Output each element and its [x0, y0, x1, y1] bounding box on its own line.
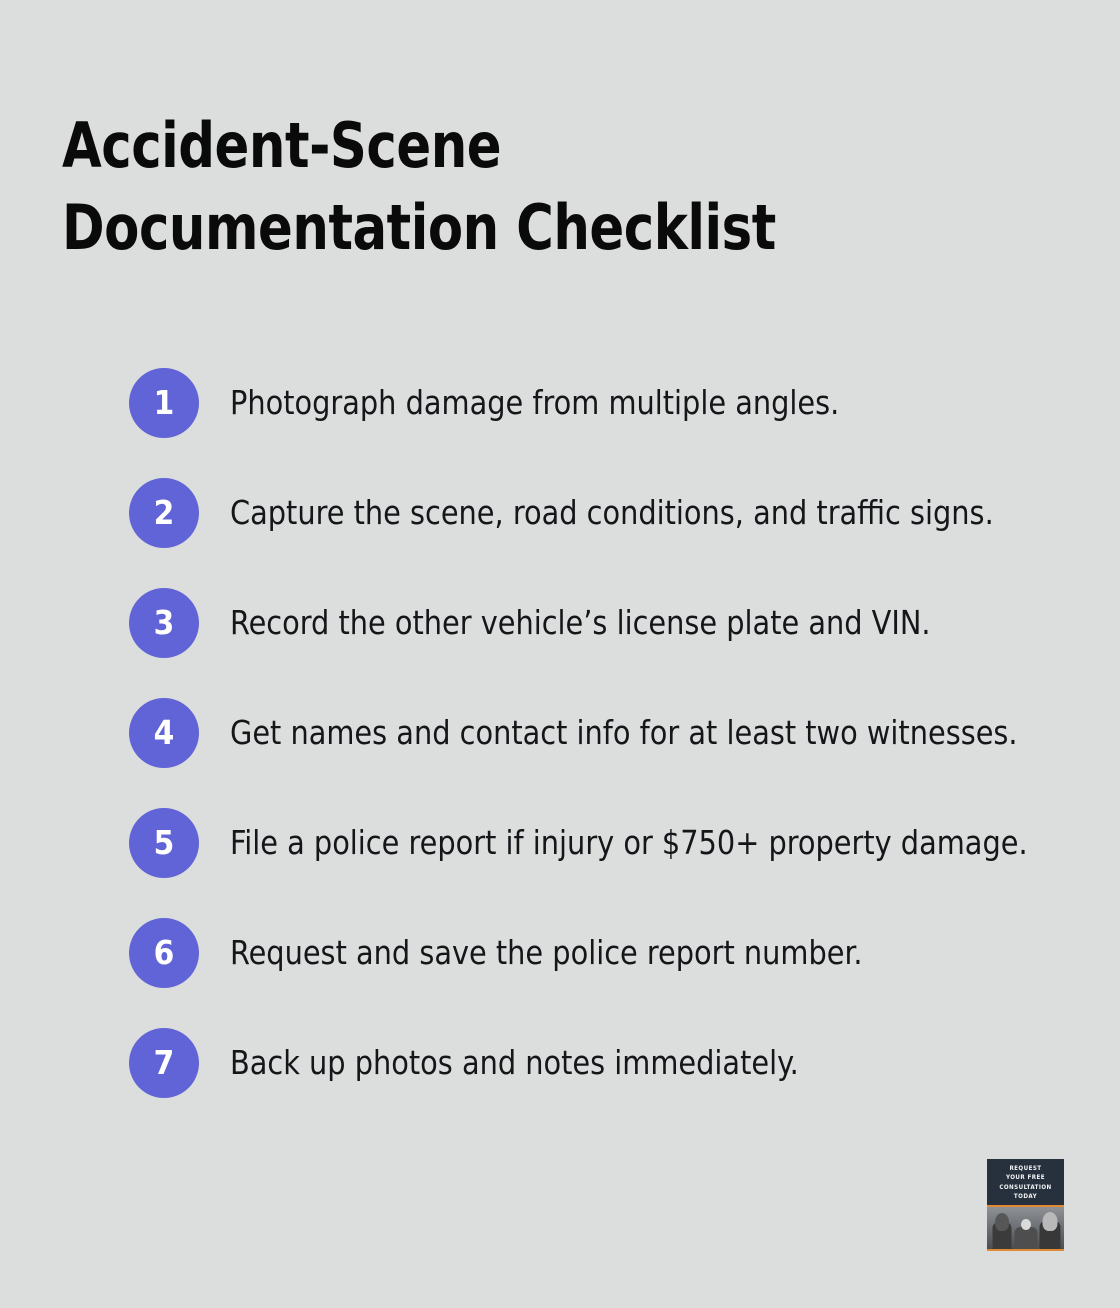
list-item-label: Back up photos and notes immediately.	[230, 1043, 799, 1083]
title-block: Accident-Scene Documentation Checklist	[62, 105, 962, 270]
step-number-badge: 2	[129, 478, 199, 548]
list-item-label: Request and save the police report numbe…	[230, 933, 863, 973]
step-number-badge: 6	[129, 918, 199, 988]
list-item: 6 Request and save the police report num…	[129, 918, 1089, 988]
list-item-label: Record the other vehicle’s license plate…	[230, 603, 931, 643]
person-head	[1021, 1219, 1031, 1230]
person-figure-left	[992, 1213, 1012, 1249]
list-item: 1 Photograph damage from multiple angles…	[129, 368, 1089, 438]
list-item-label: File a police report if injury or $750+ …	[230, 823, 1028, 863]
promo-line-3: CONSULTATION	[999, 1183, 1051, 1192]
step-number-badge: 1	[129, 368, 199, 438]
page-title: Accident-Scene Documentation Checklist	[62, 105, 890, 270]
step-number-badge: 7	[129, 1028, 199, 1098]
promo-line-1: REQUEST	[1009, 1164, 1041, 1173]
free-consultation-promo-badge[interactable]: REQUEST YOUR FREE CONSULTATION TODAY	[987, 1159, 1064, 1251]
promo-line-4: TODAY	[1014, 1192, 1037, 1201]
checklist: 1 Photograph damage from multiple angles…	[129, 368, 1089, 1098]
person-hair	[1043, 1212, 1058, 1231]
person-hair	[995, 1213, 1009, 1231]
step-number-badge: 4	[129, 698, 199, 768]
promo-headline: REQUEST YOUR FREE CONSULTATION TODAY	[987, 1159, 1064, 1205]
step-number-badge: 5	[129, 808, 199, 878]
list-item: 3 Record the other vehicle’s license pla…	[129, 588, 1089, 658]
step-number-badge: 3	[129, 588, 199, 658]
list-item-label: Capture the scene, road conditions, and …	[230, 493, 994, 533]
list-item-label: Photograph damage from multiple angles.	[230, 383, 839, 423]
checklist-infographic: Accident-Scene Documentation Checklist 1…	[0, 0, 1120, 1308]
list-item: 2 Capture the scene, road conditions, an…	[129, 478, 1089, 548]
person-figure-right	[1039, 1212, 1061, 1249]
list-item: 7 Back up photos and notes immediately.	[129, 1028, 1089, 1098]
person-body	[1015, 1227, 1038, 1249]
promo-team-photo	[987, 1207, 1064, 1251]
promo-line-2: YOUR FREE	[1006, 1173, 1045, 1182]
person-figure-center	[1014, 1218, 1038, 1249]
list-item: 4 Get names and contact info for at leas…	[129, 698, 1089, 768]
list-item-label: Get names and contact info for at least …	[230, 713, 1018, 753]
list-item: 5 File a police report if injury or $750…	[129, 808, 1089, 878]
